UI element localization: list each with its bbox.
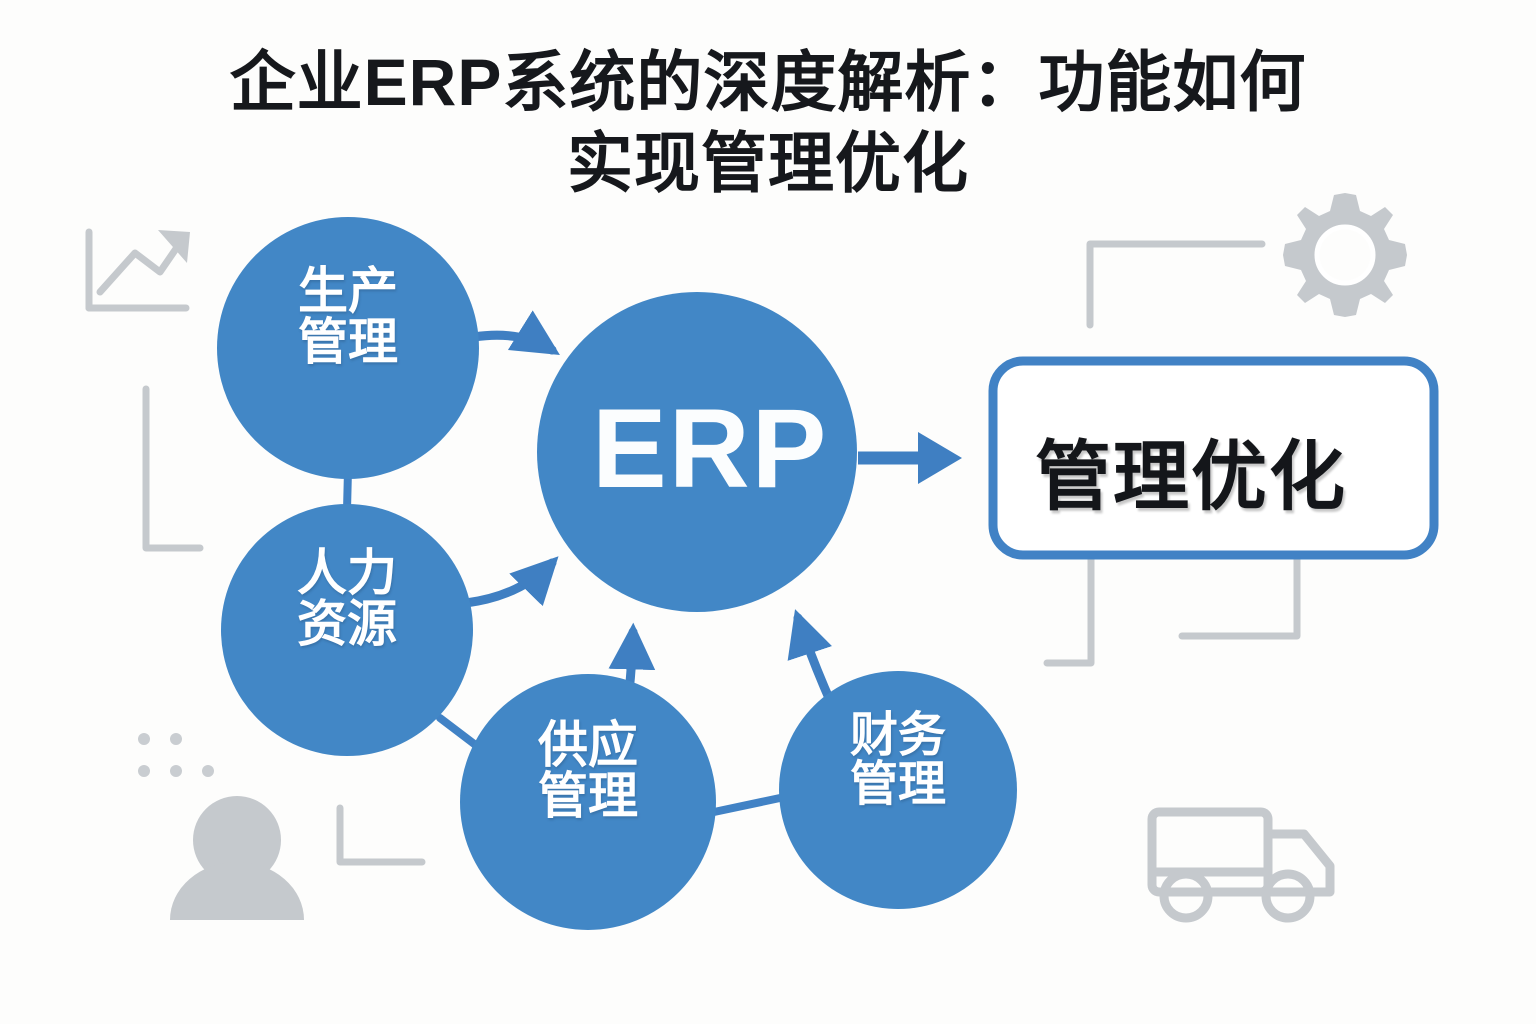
erp-diagram — [0, 0, 1536, 1024]
link-supply-finance — [714, 798, 780, 812]
node-circle-supply — [460, 674, 716, 930]
arrow-hr-to-erp — [466, 563, 552, 603]
arrow-production-to-erp — [474, 335, 552, 350]
arrow-erp-to-outcome — [858, 432, 962, 484]
node-circle-finance — [779, 671, 1017, 909]
arrow-finance-to-erp — [798, 618, 832, 705]
outcome-box — [993, 361, 1434, 555]
node-circle-erp — [537, 292, 857, 612]
node-circle-human-resources — [221, 504, 473, 756]
node-circle-production — [217, 217, 479, 479]
infographic-canvas: 企业ERP系统的深度解析：功能如何 实现管理优化 ERP 生产 管理 人力 资源… — [0, 0, 1536, 1024]
